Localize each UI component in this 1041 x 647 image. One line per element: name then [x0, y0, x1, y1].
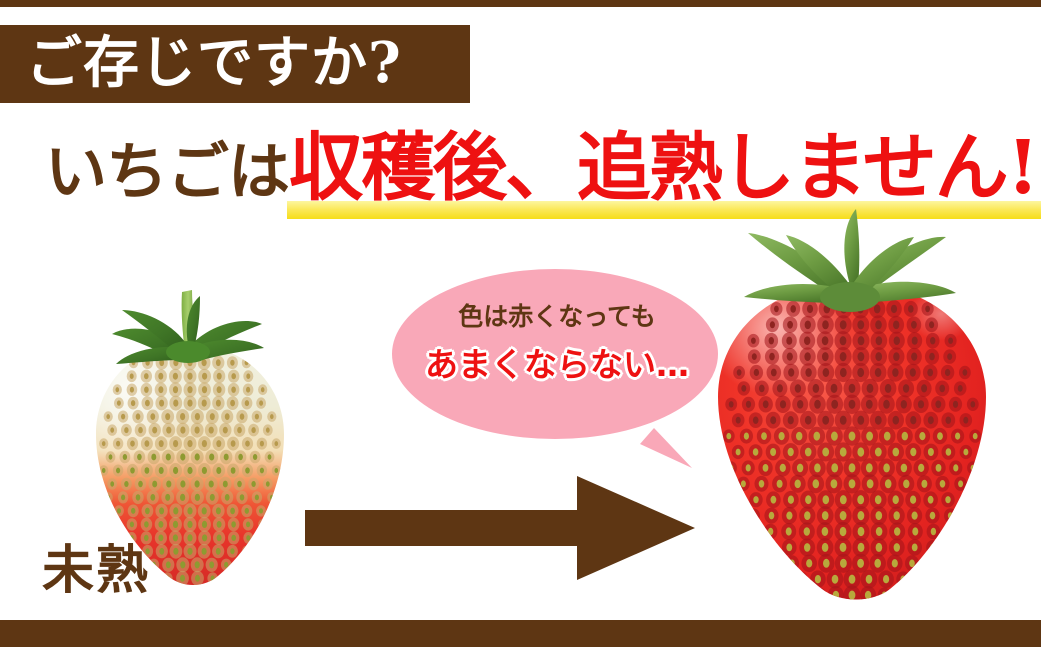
speech-bubble-line-1: 色は赤くなっても	[392, 304, 722, 329]
title-banner-text: ご存じですか?	[26, 35, 402, 91]
title-banner: ご存じですか?	[0, 25, 470, 103]
ripe-strawberry-image	[700, 205, 1000, 610]
bottom-divider-rule	[0, 620, 1041, 647]
unripe-caption: 未熟	[42, 545, 150, 597]
speech-bubble: 色は赤くなっても あまくならない…	[392, 268, 722, 468]
poster-canvas: ご存じですか? いちごは収穫後、追熟しません!	[0, 0, 1041, 647]
speech-bubble-line-2: あまくならない…	[392, 348, 722, 381]
headline-prefix: いちごは	[45, 135, 289, 208]
transform-arrow	[305, 468, 695, 586]
top-divider-rule	[0, 0, 1041, 7]
headline: いちごは収穫後、追熟しません!	[45, 122, 1035, 214]
headline-emphasis: 収穫後、追熟しません!	[289, 125, 1037, 211]
